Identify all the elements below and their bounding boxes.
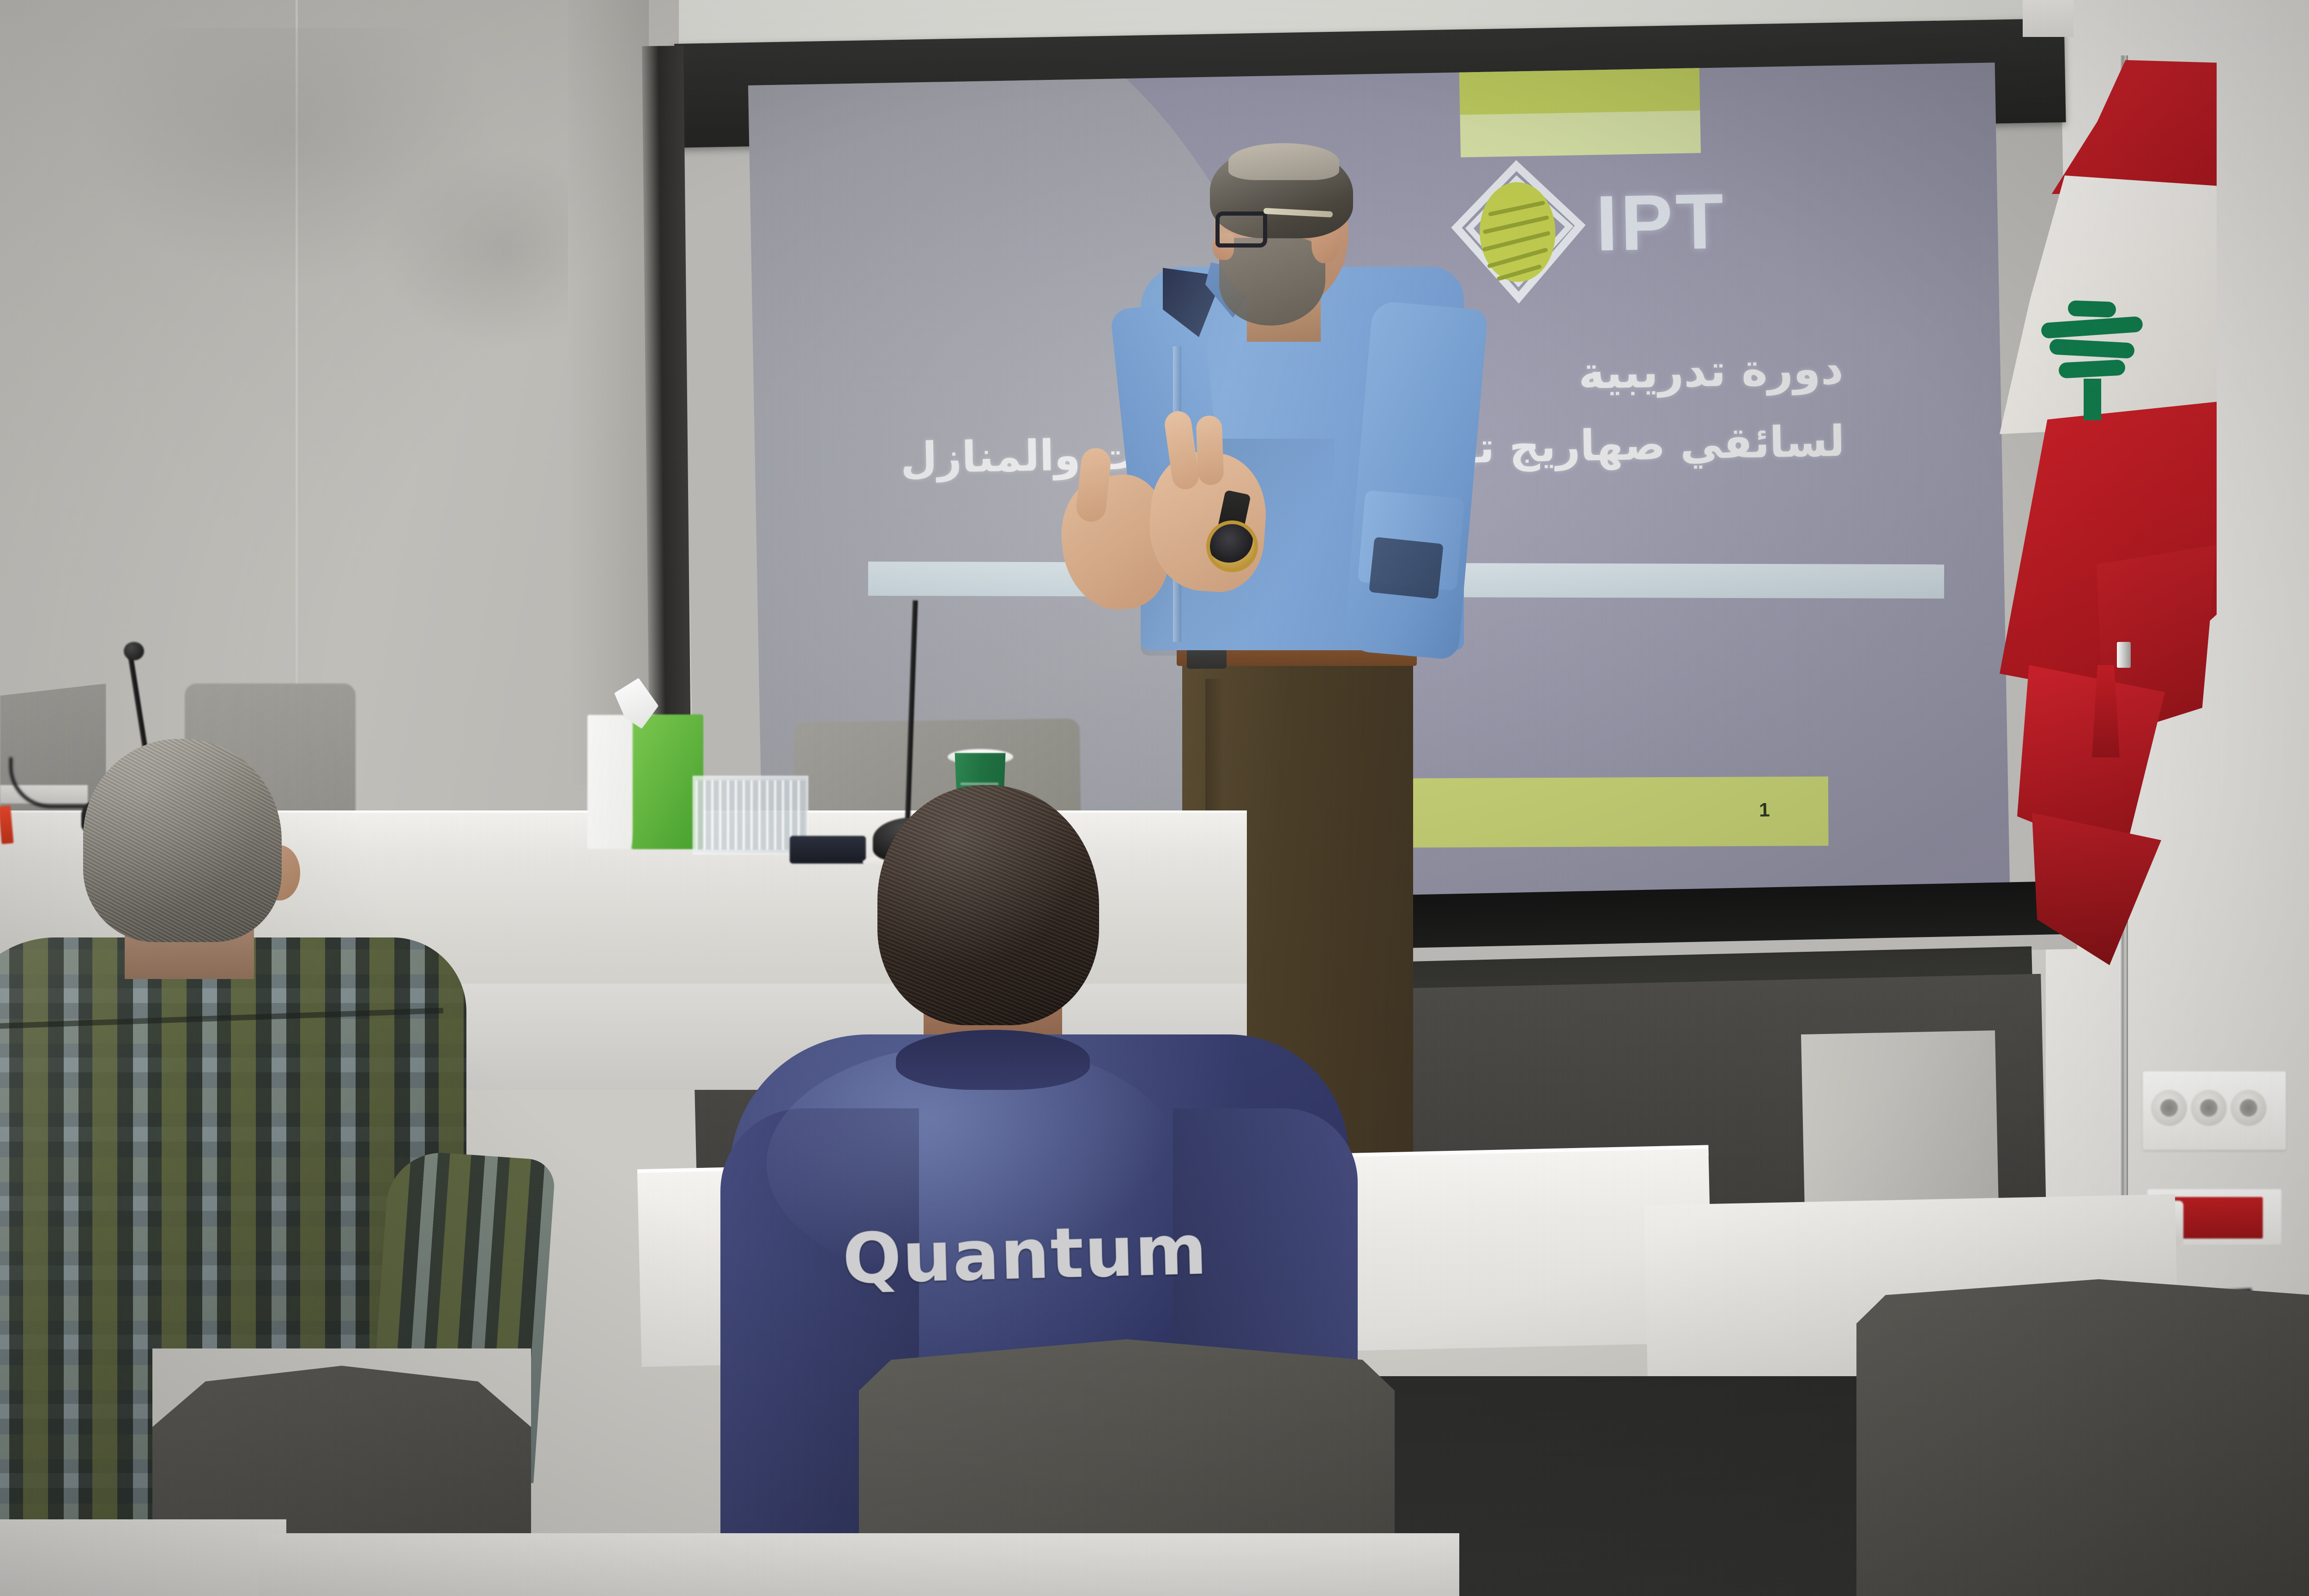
eyeglasses-icon	[1215, 212, 1267, 248]
cedar-tree-icon	[2032, 296, 2152, 420]
quantum-logo-text: Quantum	[793, 1209, 1257, 1301]
flagpole-ferrule	[2117, 642, 2131, 668]
power-socket-2[interactable]	[2191, 1090, 2227, 1126]
screen-surround-left	[568, 0, 649, 785]
power-socket-1[interactable]	[2151, 1090, 2187, 1126]
presenter-finger-2	[1196, 415, 1224, 485]
conference-room-photo: IPT دورة تدريبية لسائقي صهاريج توزيع ماد…	[0, 0, 2309, 1596]
presenter-cuff-inner	[1369, 537, 1444, 599]
microphone-capsule-1	[124, 642, 144, 660]
fleece-collar	[896, 1030, 1090, 1090]
chair-foreground-right[interactable]	[1856, 1279, 2309, 1596]
screen-housing-bracket	[2023, 0, 2073, 37]
foreground-desk-left	[0, 1519, 286, 1596]
flag-red-band-top	[2000, 60, 2217, 194]
power-outlet-plate[interactable]	[2143, 1071, 2286, 1150]
power-socket-3[interactable]	[2230, 1090, 2267, 1126]
attendee-center-hair	[877, 785, 1099, 1025]
presenter-hair-highlight	[1228, 143, 1339, 180]
attendee-left-hair	[83, 739, 282, 942]
foreground-desk-center	[259, 1533, 1459, 1596]
